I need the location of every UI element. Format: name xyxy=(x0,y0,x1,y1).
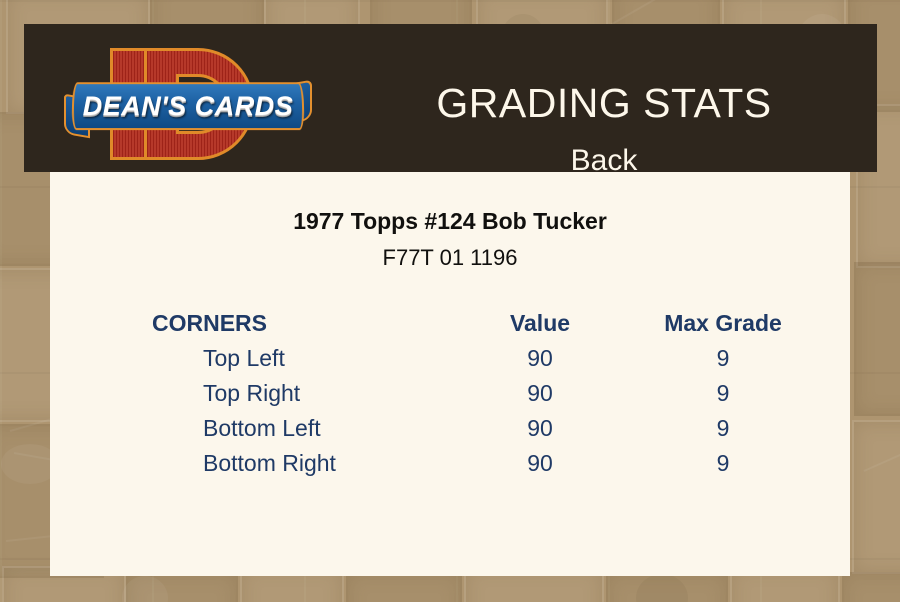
card-title: 1977 Topps #124 Bob Tucker xyxy=(50,208,850,235)
row-max-grade: 9 xyxy=(650,380,796,407)
column-header-max-grade: Max Grade xyxy=(650,310,796,337)
page-title: GRADING STATS xyxy=(324,80,884,127)
deans-cards-logo[interactable]: DEAN'S CARDS xyxy=(58,28,318,168)
background-card xyxy=(852,420,900,574)
background-card xyxy=(854,262,900,416)
background-card xyxy=(842,572,900,602)
grading-stats-page: DEAN'S CARDS GRADING STATS Back 1977 Top… xyxy=(0,0,900,602)
row-label: Top Right xyxy=(203,380,300,407)
row-value: 90 xyxy=(480,415,600,442)
column-header-corners: CORNERS xyxy=(152,310,267,337)
row-max-grade: 9 xyxy=(650,345,796,372)
row-value: 90 xyxy=(480,450,600,477)
table-row: Bottom Left 90 9 xyxy=(50,415,850,450)
column-header-value: Value xyxy=(480,310,600,337)
row-max-grade: 9 xyxy=(650,415,796,442)
row-label: Bottom Right xyxy=(203,450,336,477)
table-row: Bottom Right 90 9 xyxy=(50,450,850,485)
row-label: Bottom Left xyxy=(203,415,321,442)
stats-table: CORNERS Value Max Grade Top Left 90 9 To… xyxy=(50,310,850,485)
content-panel: 1977 Topps #124 Bob Tucker F77T 01 1196 … xyxy=(50,172,850,576)
logo-ribbon-text: DEAN'S CARDS xyxy=(64,80,312,134)
row-value: 90 xyxy=(480,345,600,372)
row-value: 90 xyxy=(480,380,600,407)
background-card xyxy=(346,572,462,602)
row-label: Top Left xyxy=(203,345,285,372)
header-bar: DEAN'S CARDS GRADING STATS Back xyxy=(24,24,877,172)
row-max-grade: 9 xyxy=(650,450,796,477)
table-row: Top Right 90 9 xyxy=(50,380,850,415)
card-identifier: F77T 01 1196 xyxy=(50,245,850,271)
table-header-row: CORNERS Value Max Grade xyxy=(50,310,850,345)
table-row: Top Left 90 9 xyxy=(50,345,850,380)
logo-ribbon-banner: DEAN'S CARDS xyxy=(64,80,312,134)
